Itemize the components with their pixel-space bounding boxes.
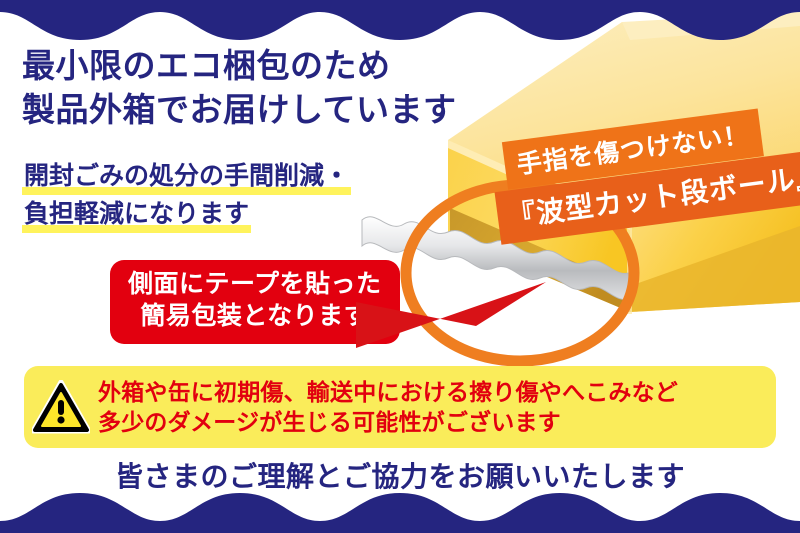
callout-tape-note: 側面にテープを貼った 簡易包装となります (110, 260, 400, 344)
wave-border-bottom (0, 491, 800, 533)
warning-line-2: 多少のダメージが生じる可能性がございます (98, 407, 678, 437)
sub-copy-row-1: 開封ごみの処分の手間削減・ (22, 158, 351, 196)
promo-banner: 最小限のエコ梱包のため 製品外箱でお届けしています 開封ごみの処分の手間削減・ … (0, 0, 800, 533)
page-title: 最小限のエコ梱包のため 製品外箱でお届けしています (22, 44, 457, 132)
sub-copy: 開封ごみの処分の手間削減・ 負担軽減になります (22, 158, 351, 234)
sub-copy-line-2: 負担軽減になります (22, 196, 251, 234)
warning-text: 外箱や缶に初期傷、輸送中における擦り傷やへこみなど 多少のダメージが生じる可能性… (98, 377, 678, 438)
callout-line-2: 簡易包装となります (128, 301, 382, 333)
callout-line-1: 側面にテープを貼った (128, 269, 382, 301)
sub-copy-row-2: 負担軽減になります (22, 196, 351, 234)
closing-message: 皆さまのご理解とご協力をお願いいたします (0, 455, 800, 495)
warning-panel: 外箱や缶に初期傷、輸送中における擦り傷やへこみなど 多少のダメージが生じる可能性… (24, 366, 776, 448)
warning-triangle-icon (24, 380, 98, 434)
sub-copy-line-1: 開封ごみの処分の手間削減・ (22, 158, 351, 196)
callout-body: 側面にテープを貼った 簡易包装となります (110, 260, 400, 344)
headline-line-1: 最小限のエコ梱包のため (22, 44, 457, 88)
warning-line-1: 外箱や缶に初期傷、輸送中における擦り傷やへこみなど (98, 377, 678, 407)
headline-line-2: 製品外箱でお届けしています (22, 88, 457, 132)
